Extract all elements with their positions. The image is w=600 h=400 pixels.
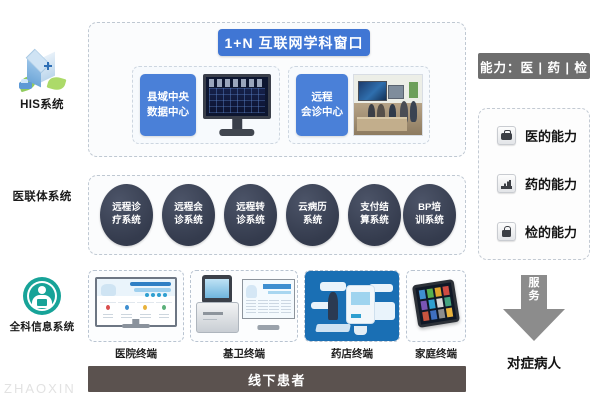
terminal-label-home: 家庭终端	[400, 346, 472, 361]
rail-label-alliance: 医联体系统	[0, 188, 84, 204]
badge-bp-training[interactable]: BP培 训系统	[403, 184, 456, 246]
terminal-card-pharmacy[interactable]	[304, 270, 400, 342]
rail-item-his[interactable]: HIS系统	[0, 48, 84, 112]
terminal-card-home[interactable]	[406, 270, 466, 342]
tablet-device-icon	[412, 279, 460, 328]
diagram-canvas: HIS系统 医联体系统 全科信息系统 1+N 互联网学科窗口 县域中央 数据中心…	[0, 0, 600, 400]
pc-monitor-icon	[242, 279, 295, 329]
service-arrow-label: 服务	[526, 277, 542, 302]
left-rail: HIS系统 医联体系统 全科信息系统	[0, 0, 84, 400]
badge-remote-referral[interactable]: 远程转 诊系统	[224, 184, 277, 246]
badge-payment-settlement[interactable]: 支付结 算系统	[348, 184, 401, 246]
badge-remote-treatment[interactable]: 远程诊 疗系统	[100, 184, 153, 246]
capability-label-pharmacy: 药的能力	[525, 174, 577, 193]
badge-cloud-records[interactable]: 云病历 系统	[286, 184, 339, 246]
health-tv-screen	[95, 277, 178, 327]
internet-discipline-window-banner[interactable]: 1+N 互联网学科窗口	[218, 29, 370, 56]
conference-room-photo	[353, 74, 423, 136]
kiosk-device-icon	[194, 275, 241, 334]
remote-consult-center-tile[interactable]: 远程 会诊中心	[296, 74, 348, 136]
capability-row-inspection[interactable]: 检的能力	[497, 222, 577, 241]
offline-patient-bar: 线下患者	[88, 366, 466, 392]
watermark: ZHAOXIN	[4, 381, 76, 396]
capability-row-pharmacy[interactable]: 药的能力	[497, 174, 577, 193]
rail-item-general-practice[interactable]: 全科信息系统	[0, 277, 84, 334]
desktop-monitor-image	[203, 74, 271, 136]
terminal-label-hospital: 医院终端	[88, 346, 184, 361]
hospital-building-icon	[19, 48, 65, 92]
county-data-center-tile[interactable]: 县域中央 数据中心	[140, 74, 196, 136]
pharmacy-illustration	[305, 271, 399, 341]
rail-item-alliance[interactable]: 医联体系统	[0, 188, 84, 204]
capability-header: 能力：医 | 药 | 检	[478, 53, 590, 79]
capability-row-medical[interactable]: 医的能力	[497, 126, 577, 145]
service-arrow: 服务	[503, 275, 565, 341]
bar-chart-icon	[497, 174, 516, 193]
terminal-label-primary-care: 基卫终端	[190, 346, 298, 361]
badge-remote-consult[interactable]: 远程会 诊系统	[162, 184, 215, 246]
green-person-circle-icon	[23, 277, 61, 315]
terminal-label-pharmacy: 药店终端	[304, 346, 400, 361]
capability-label-medical: 医的能力	[525, 126, 577, 145]
lock-icon	[497, 222, 516, 241]
briefcase-icon	[497, 126, 516, 145]
rail-label-general-practice: 全科信息系统	[0, 319, 84, 334]
capability-label-inspection: 检的能力	[525, 222, 577, 241]
target-patient-label: 对症病人	[478, 352, 590, 372]
terminal-card-hospital[interactable]	[88, 270, 184, 342]
terminal-card-primary-care[interactable]	[190, 270, 298, 342]
rail-label-his: HIS系统	[0, 96, 84, 112]
